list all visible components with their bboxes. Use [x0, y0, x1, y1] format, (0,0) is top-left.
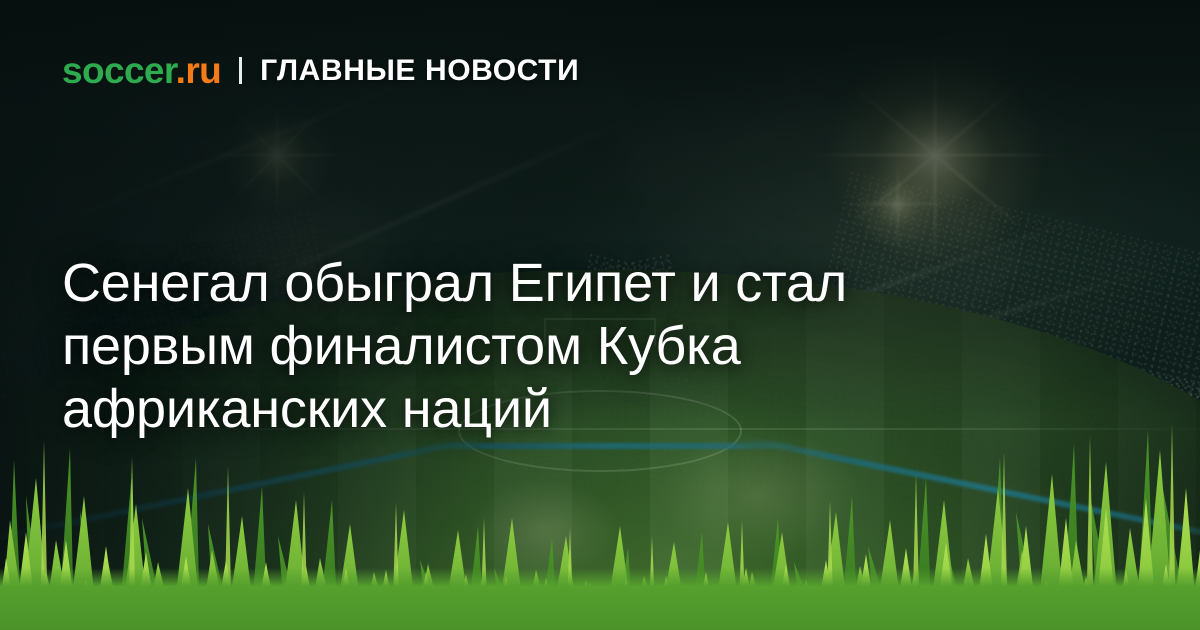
logo-primary-text: soccer	[62, 50, 176, 91]
news-share-card: soccer.ru ГЛАВНЫЕ НОВОСТИ Сенегал обыгра…	[0, 0, 1200, 630]
page-title: Сенегал обыграл Египет и стал первым фин…	[62, 252, 1022, 441]
logo-suffix-text: .ru	[176, 50, 221, 91]
grass-dense-base	[0, 568, 1200, 630]
site-header: soccer.ru ГЛАВНЫЕ НОВОСТИ	[62, 52, 579, 89]
headline-line-1: Сенегал обыграл Египет и стал	[62, 252, 1022, 315]
section-label: ГЛАВНЫЕ НОВОСТИ	[260, 56, 579, 86]
headline-line-3: африканских наций	[62, 378, 1022, 441]
site-logo[interactable]: soccer.ru	[62, 52, 221, 89]
headline-line-2: первым финалистом Кубка	[62, 315, 1022, 378]
header-separator	[239, 57, 242, 84]
